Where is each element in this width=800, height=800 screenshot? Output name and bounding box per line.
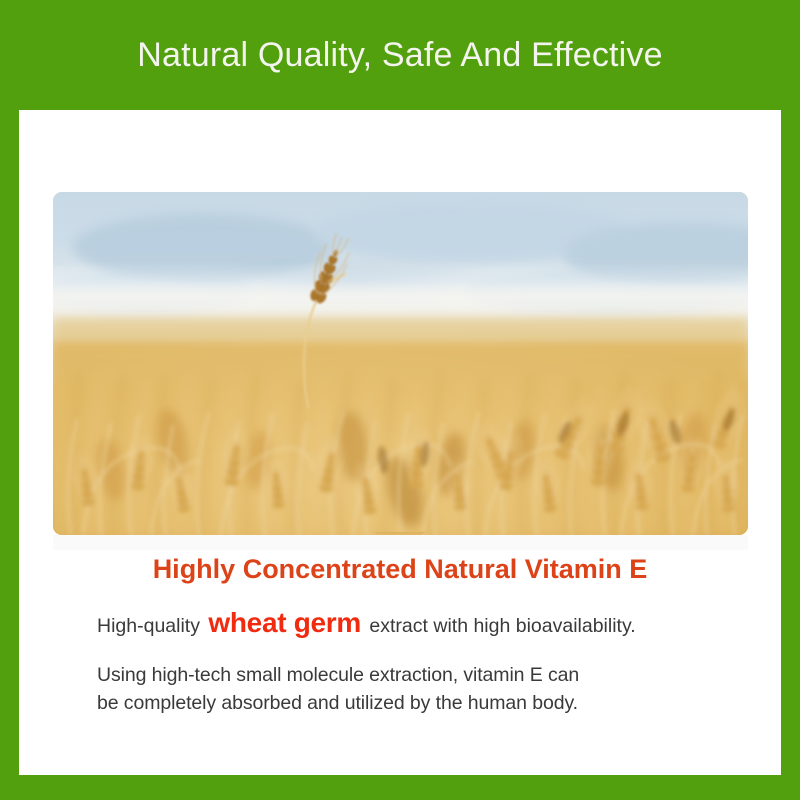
photo-shadow-band [53,535,748,550]
description-text-block: Highly Concentrated Natural Vitamin E Hi… [19,555,781,718]
paragraph2-line1: Using high-tech small molecule extractio… [97,664,579,686]
paragraph1-prefix: High-quality [97,615,200,637]
page-title: Natural Quality, Safe And Effective [137,38,662,72]
content-card: Highly Concentrated Natural Vitamin E Hi… [19,110,781,775]
photo-container [53,192,748,535]
paragraph-extraction: Using high-tech small molecule extractio… [19,662,781,717]
paragraph2-line2: be completely absorbed and utilized by t… [97,692,578,714]
wheat-germ-emphasis: wheat germ [205,607,364,638]
paragraph-bioavailability: High-quality wheat germ extract with hig… [19,603,781,643]
product-headline: Highly Concentrated Natural Vitamin E [19,555,781,585]
paragraph1-suffix: extract with high bioavailability. [369,615,635,637]
product-infographic-page: Natural Quality, Safe And Effective [0,0,800,800]
header-banner: Natural Quality, Safe And Effective [0,0,800,110]
wheat-field-photo [53,192,748,535]
